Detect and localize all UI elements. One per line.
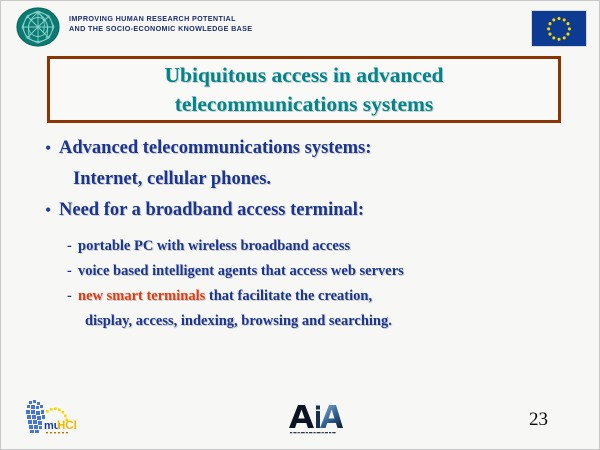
bullet-text-1: Advanced telecommunications systems: <box>59 133 371 163</box>
slide-header: IMPROVING HUMAN RESEARCH POTENTIAL AND T… <box>1 1 599 51</box>
sub-bullet-text-1: portable PC with wireless broadband acce… <box>78 234 350 259</box>
bullet-continuation-1: Internet, cellular phones. <box>1 164 599 194</box>
slide-title-box: Ubiquitous access in advanced telecommun… <box>47 56 561 123</box>
bullet-item-1: • Advanced telecommunications systems: <box>1 133 599 163</box>
svg-text:HCI: HCI <box>57 420 77 432</box>
presentation-slide: IMPROVING HUMAN RESEARCH POTENTIAL AND T… <box>0 0 600 450</box>
header-programme-title: IMPROVING HUMAN RESEARCH POTENTIAL AND T… <box>69 14 329 35</box>
bullet-marker-icon: • <box>45 195 59 225</box>
sub-bullet-item-3: - new smart terminals that facilitate th… <box>1 284 599 309</box>
sub-bullet-text-2: voice based intelligent agents that acce… <box>78 259 404 284</box>
dash-marker-icon: - <box>67 234 78 259</box>
sub-bullet-text-3: new smart terminals that facilitate the … <box>78 284 372 309</box>
dash-marker-icon: - <box>67 284 78 309</box>
sub-bullet-rest: that facilitate the creation, <box>205 288 372 304</box>
bullet-marker-icon: • <box>45 133 59 163</box>
page-number: 23 <box>529 409 569 431</box>
european-union-flag-icon <box>531 10 587 47</box>
sub-bullet-continuation-3: display, access, indexing, browsing and … <box>1 309 599 334</box>
slide-body: • Advanced telecommunications systems: I… <box>1 133 599 334</box>
sub-bullet-highlight: new smart terminals <box>78 288 205 304</box>
eu-research-emblem-icon <box>16 7 60 47</box>
sub-bullet-item-1: - portable PC with wireless broadband ac… <box>1 234 599 259</box>
bullet-text-2: Need for a broadband access terminal: <box>59 195 364 225</box>
bullet-item-2: • Need for a broadband access terminal: <box>1 195 599 225</box>
dash-marker-icon: - <box>67 259 78 284</box>
page-title: Ubiquitous access in advanced telecommun… <box>165 61 444 118</box>
aia-logo <box>287 401 343 437</box>
muhci-logo: mu HCI <box>21 397 83 439</box>
sub-bullet-item-2: - voice based intelligent agents that ac… <box>1 259 599 284</box>
